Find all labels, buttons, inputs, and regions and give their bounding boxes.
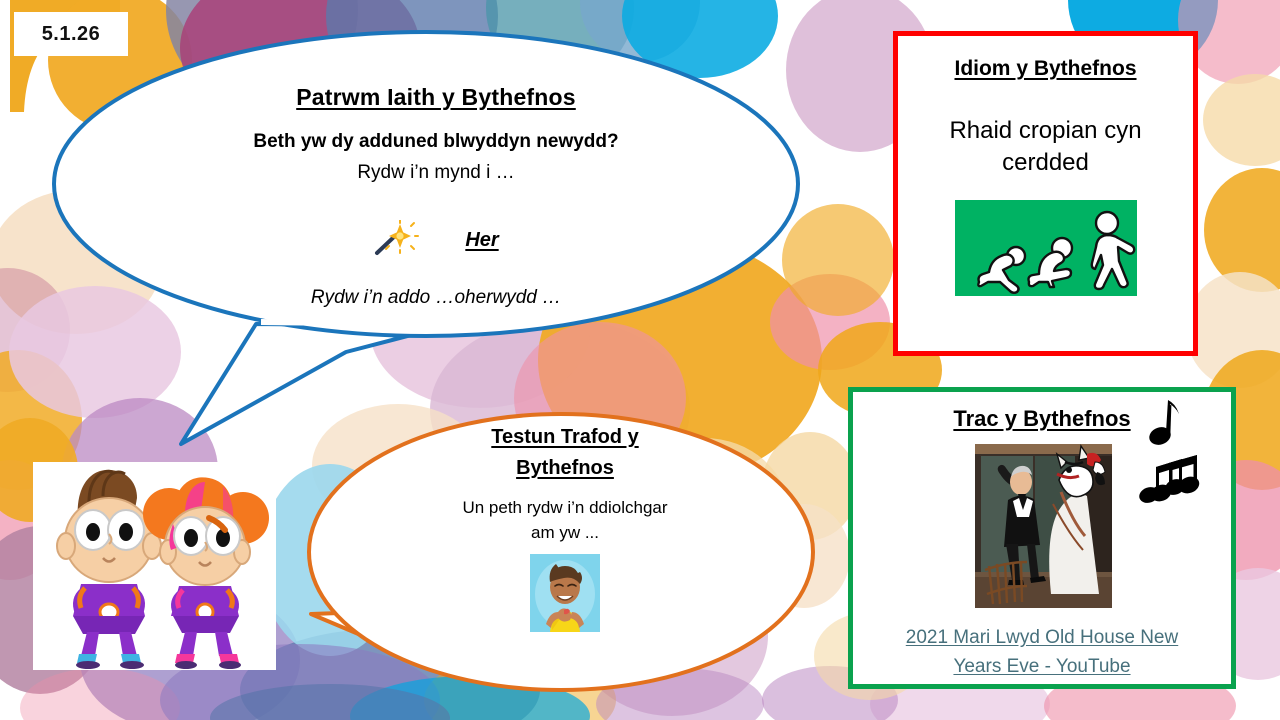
blue-bubble-answer: Rydw i’n mynd i … bbox=[156, 162, 716, 184]
youtube-link-line1: 2021 Mari Lwyd Old House New bbox=[906, 627, 1178, 648]
orange-bubble-text-line2: am yw ... bbox=[531, 523, 599, 542]
magic-wand-icon bbox=[373, 220, 419, 261]
challenge-label: Her bbox=[465, 229, 498, 252]
date-label: 5.1.26 bbox=[14, 12, 128, 56]
discussion-topic-speech-bubble: Testun Trafod y Bythefnos Un peth rydw i… bbox=[305, 402, 817, 702]
youtube-link-line2: Years Eve - YouTube bbox=[953, 656, 1130, 677]
idiom-phrase-line1: Rhaid cropian cyn bbox=[949, 117, 1141, 144]
blue-bubble-question: Beth yw dy adduned blwyddyn newydd? bbox=[156, 131, 716, 153]
mari-lwyd-video-thumbnail[interactable] bbox=[975, 444, 1112, 608]
idiom-box: Idiom y Bythefnos Rhaid cropian cyn cerd… bbox=[893, 31, 1198, 356]
language-pattern-speech-bubble: Patrwm Iaith y Bythefnos Beth yw dy addu… bbox=[46, 24, 816, 454]
blue-bubble-title: Patrwm Iaith y Bythefnos bbox=[156, 84, 716, 111]
music-notes-icon bbox=[1139, 397, 1223, 507]
two-cartoon-kids-image bbox=[33, 462, 276, 670]
grateful-person-image bbox=[530, 554, 600, 632]
crawl-kneel-walk-figures-image bbox=[955, 200, 1137, 296]
idiom-phrase-line2: cerdded bbox=[1002, 149, 1089, 176]
orange-bubble-title-line2: Bythefnos bbox=[516, 457, 614, 479]
orange-bubble-title-line1: Testun Trafod y bbox=[491, 426, 638, 448]
track-box: Trac y Bythefnos bbox=[848, 387, 1236, 689]
youtube-link[interactable]: 2021 Mari Lwyd Old House New Years Eve -… bbox=[869, 624, 1215, 681]
orange-bubble-text-line1: Un peth rydw i’n ddiolchgar bbox=[462, 498, 667, 517]
idiom-box-title: Idiom y Bythefnos bbox=[898, 57, 1193, 81]
slide-canvas: 5.1.26 bbox=[0, 0, 1280, 720]
challenge-sentence: Rydw i’n addo …oherwydd … bbox=[156, 287, 716, 309]
blue-bubble-content: Patrwm Iaith y Bythefnos Beth yw dy addu… bbox=[156, 84, 716, 309]
orange-bubble-content: Testun Trafod y Bythefnos Un peth rydw i… bbox=[415, 422, 715, 632]
